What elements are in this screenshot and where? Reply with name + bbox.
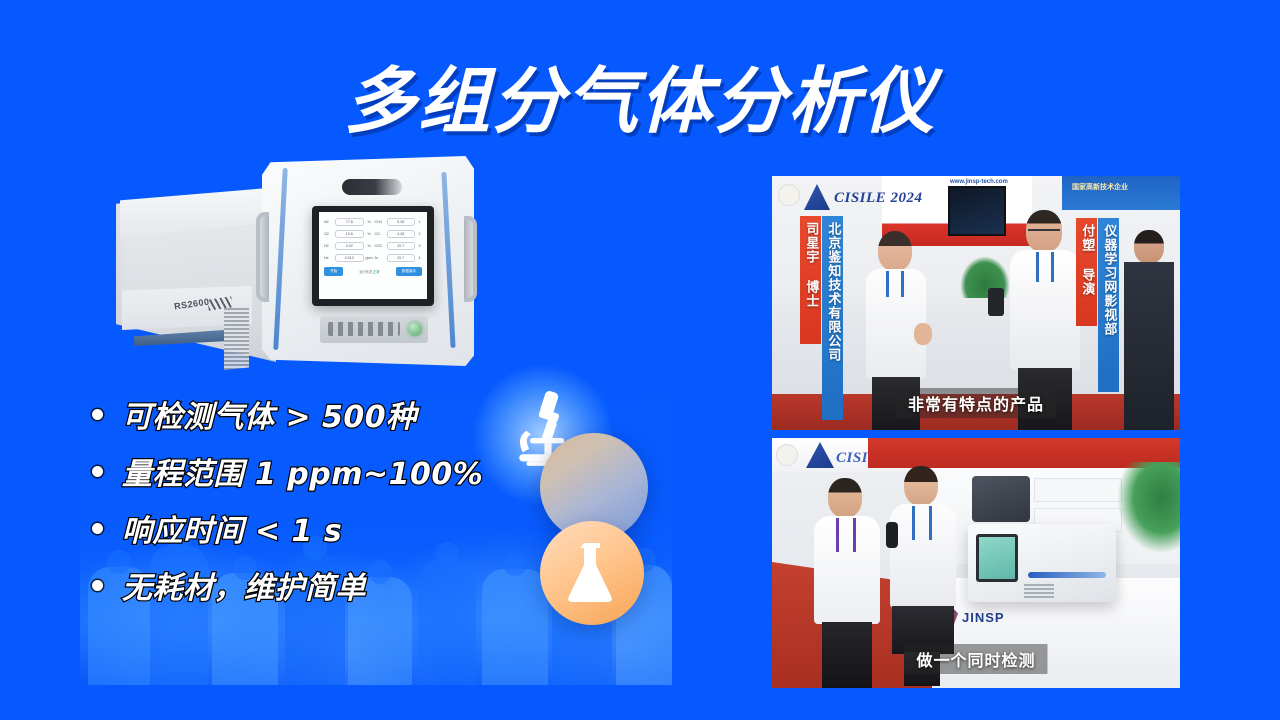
cell-unit: % xyxy=(366,220,373,224)
exhibition-photo-bottom[interactable]: CISILE 2024 JINSP 做一个同时检测 xyxy=(772,438,1180,688)
cell-value: 20.7 xyxy=(387,254,416,262)
name-tag-company-right: 仪器学习网影视部 xyxy=(1098,218,1119,392)
feature-list: 可检测气体 > 500种 量程范围 1 ppm~100% 响应时间 < 1 s … xyxy=(92,392,512,620)
event-logo-text: CISILE 2024 xyxy=(834,190,922,207)
cell-name: CO2 xyxy=(375,244,385,248)
device-touchscreen[interactable]: N2 77.8 % CH4 5.26 1 O2 19.8 % CO 4.28 2… xyxy=(319,212,427,299)
person-lanyard xyxy=(912,506,932,540)
status-value: 正常 xyxy=(373,270,379,274)
screen-actions: 开始 运行状态 正常 数据保存 xyxy=(324,267,422,276)
exhibition-photo-top[interactable]: www.jinsp-tech.com 国家高新技术企业 CISILE 2024 … xyxy=(772,176,1180,430)
cell-value: 5.26 xyxy=(387,218,416,226)
bullet-dot-icon xyxy=(92,409,103,420)
cell-value: 3.02 xyxy=(335,242,364,250)
cell-index: 4 xyxy=(417,256,422,260)
person-lanyard xyxy=(886,271,904,297)
booth-tv-screen xyxy=(948,186,1006,236)
device-brand-badge xyxy=(342,179,402,195)
video-subtitle: 非常有特点的产品 xyxy=(896,388,1056,418)
exhibited-analyzer-stripe xyxy=(1028,572,1106,578)
cell-value: 77.8 xyxy=(335,218,364,226)
cell-unit: % xyxy=(366,244,373,248)
booth-monitor xyxy=(972,476,1030,522)
bullet-dot-icon xyxy=(92,466,103,477)
cell-name: CO xyxy=(375,232,385,236)
bullet-label: 响应时间 < 1 s xyxy=(122,506,342,550)
exhibited-analyzer-screen xyxy=(976,534,1018,582)
name-tag-role-left: 司星宇 博士 xyxy=(800,216,821,344)
flask-icon xyxy=(562,539,622,605)
list-item: 无耗材，维护简单 xyxy=(92,563,512,607)
page-title: 多组分气体分析仪 xyxy=(0,42,1280,147)
person-head xyxy=(1134,230,1164,264)
cell-value: 4.28 xyxy=(387,230,416,238)
person-body xyxy=(1124,262,1174,430)
name-tag-role-right: 付塑 导演 xyxy=(1076,218,1097,326)
cell-name: He xyxy=(324,256,333,260)
screen-table: N2 77.8 % CH4 5.26 1 O2 19.8 % CO 4.28 2… xyxy=(319,212,427,276)
person-glasses-icon xyxy=(1028,229,1060,234)
bullet-label: 可检测气体 > 500种 xyxy=(122,392,417,436)
person-head xyxy=(878,231,912,271)
cell-index: 1 xyxy=(417,220,422,224)
cisile-logo-badge xyxy=(776,444,798,466)
device-handle-left xyxy=(256,212,269,302)
person-legs xyxy=(822,622,872,688)
device-handle-right xyxy=(464,216,477,302)
person-microphone xyxy=(886,522,898,548)
table-row: He 0.013 ppm Ar 20.7 4 xyxy=(324,254,422,262)
person-attendee xyxy=(1124,230,1174,430)
cell-index: 2 xyxy=(417,232,422,236)
person-head xyxy=(904,466,938,506)
video-subtitle: 做一个同时检测 xyxy=(904,644,1047,674)
cell-name: CH4 xyxy=(375,220,385,224)
status-label: 运行状态 xyxy=(359,270,372,274)
booth-palm-plant xyxy=(1118,462,1180,552)
save-button[interactable]: 数据保存 xyxy=(396,267,422,276)
device-io-ports xyxy=(328,322,400,336)
start-button[interactable]: 开始 xyxy=(324,267,343,276)
person-lanyard xyxy=(1036,252,1054,282)
cell-name: Ar xyxy=(375,256,385,260)
person-head xyxy=(828,478,862,518)
list-item: 量程范围 1 ppm~100% xyxy=(92,449,512,493)
booth-url-text: www.jinsp-tech.com xyxy=(950,179,1008,185)
status-text: 运行状态 正常 xyxy=(359,269,379,274)
cell-value: 19.8 xyxy=(335,230,364,238)
cell-name: N2 xyxy=(324,220,333,224)
cell-name: O2 xyxy=(324,232,333,236)
bullet-label: 量程范围 1 ppm~100% xyxy=(122,449,483,493)
booth-brand-text: JINSP xyxy=(962,610,1005,625)
flask-badge xyxy=(540,521,644,625)
cell-unit: ppm xyxy=(366,256,373,260)
device-power-button[interactable] xyxy=(408,322,422,336)
name-tag-company-left: 北京鉴知技术有限公司 xyxy=(822,216,843,420)
exhibited-analyzer-vent xyxy=(1024,582,1054,598)
person-lanyard xyxy=(836,518,856,552)
booth-header-text: 国家高新技术企业 xyxy=(1072,182,1128,192)
cell-name: H2 xyxy=(324,244,333,248)
device-vent-grill xyxy=(224,306,249,370)
list-item: 可检测气体 > 500种 xyxy=(92,392,512,436)
table-row: H2 3.02 % CO2 20.7 3 xyxy=(324,242,422,250)
list-item: 响应时间 < 1 s xyxy=(92,506,512,550)
table-row: N2 77.8 % CH4 5.26 1 xyxy=(324,218,422,226)
booth-shelf xyxy=(1034,478,1122,502)
cell-value: 20.7 xyxy=(387,242,416,250)
cell-value: 0.013 xyxy=(335,254,364,262)
cell-index: 3 xyxy=(417,244,422,248)
gas-analyzer-device: RS2600 N2 77.8 % CH4 5.26 1 O2 19.8 % xyxy=(112,150,492,372)
cell-unit: % xyxy=(366,232,373,236)
person-visitor xyxy=(814,478,880,688)
table-row: O2 19.8 % CO 4.28 2 xyxy=(324,230,422,238)
person-phone xyxy=(988,288,1004,316)
cisile-logo-badge xyxy=(778,184,800,206)
bullet-label: 无耗材，维护简单 xyxy=(122,563,366,607)
person-hand xyxy=(914,323,932,345)
bullet-dot-icon xyxy=(92,580,103,591)
bullet-dot-icon xyxy=(92,523,103,534)
